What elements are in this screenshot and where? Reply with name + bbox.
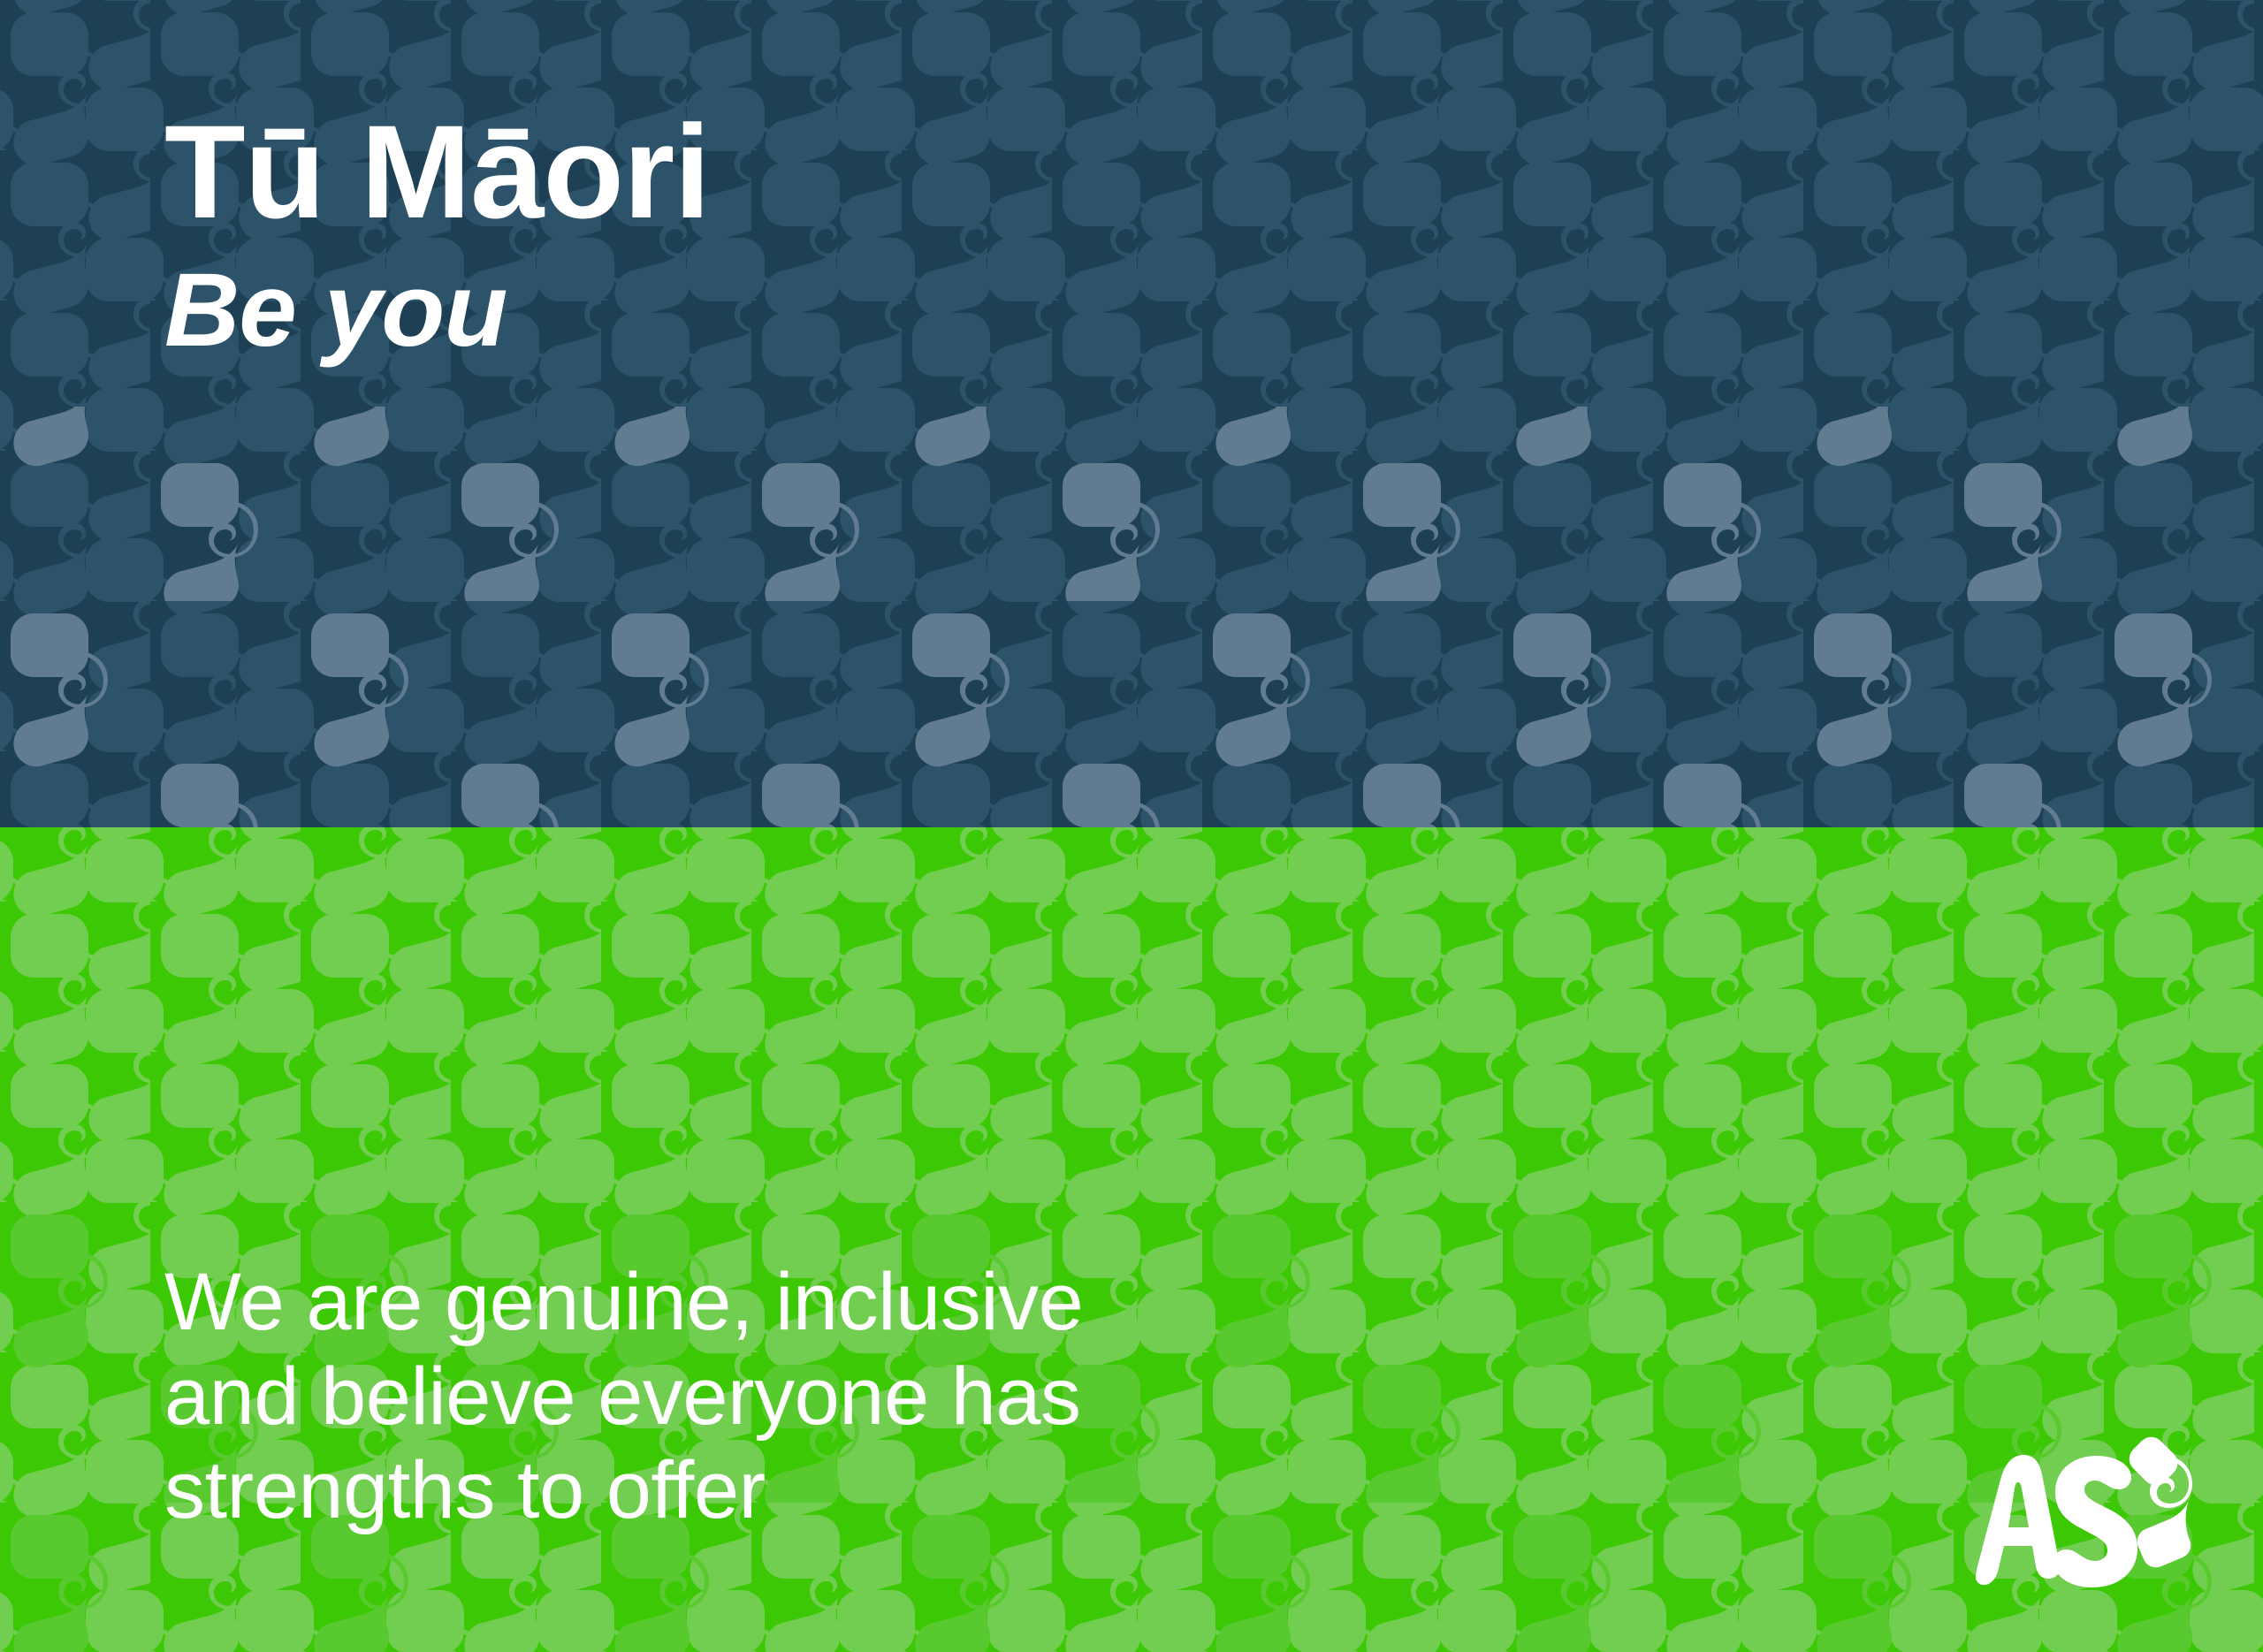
statement-block: We are genuine, inclusive and believe ev…: [164, 1255, 1402, 1538]
headline-line-maori: Tū Māori: [164, 104, 710, 240]
green-panel: We are genuine, inclusive and believe ev…: [0, 827, 2263, 1652]
headline-line-english: Be you: [164, 252, 710, 369]
navy-panel: Tū Māori Be you: [0, 0, 2263, 827]
logo-letter-a: [1976, 1455, 2060, 1585]
brand-logo: [1970, 1424, 2208, 1597]
logo-artwork: [1970, 1424, 2208, 1597]
koru-mark-icon: [2130, 1437, 2192, 1568]
headline-block: Tū Māori Be you: [164, 104, 710, 369]
logo-letter-s: [2053, 1456, 2137, 1587]
statement-line-3: strengths to offer: [164, 1443, 1402, 1538]
poster-canvas: Tū Māori Be you: [0, 0, 2263, 1652]
statement-line-2: and believe everyone has: [164, 1350, 1402, 1444]
statement-line-1: We are genuine, inclusive: [164, 1255, 1402, 1350]
